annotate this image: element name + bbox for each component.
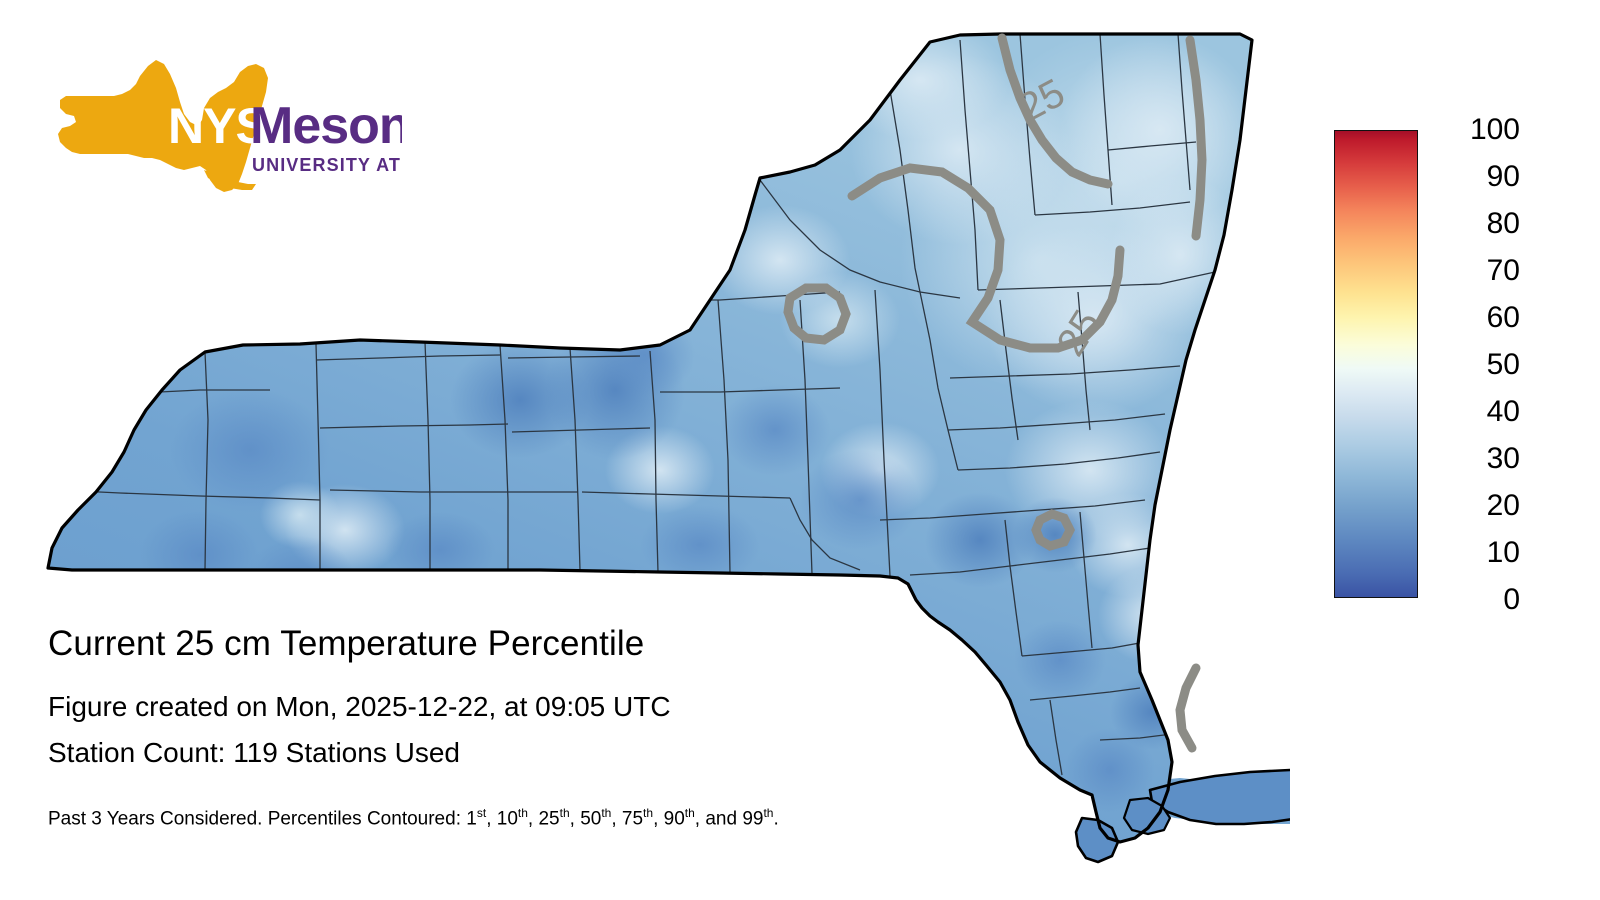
colorbar-tick-100: 100 xyxy=(1424,115,1520,145)
colorbar-tick-10: 10 xyxy=(1424,538,1520,568)
footnote-p5-suffix: th xyxy=(643,806,653,820)
colorbar-tick-0: 0 xyxy=(1424,585,1520,615)
footnote-p4-suffix: th xyxy=(601,806,611,820)
colorbar-container xyxy=(1334,130,1418,598)
footnote-p5: 75 xyxy=(622,808,643,829)
colorbar-tick-90: 90 xyxy=(1424,162,1520,192)
nys-mesonet-logo: NYS Mesonet UNIVERSITY AT ALBANY xyxy=(52,58,402,193)
logo-subtitle-text: UNIVERSITY AT ALBANY xyxy=(252,155,402,175)
logo-mesonet-text: Mesonet xyxy=(250,97,402,155)
colorbar-tick-60: 60 xyxy=(1424,303,1520,333)
percentile-colorbar xyxy=(1334,130,1418,598)
footnote-p1: 1 xyxy=(466,808,477,829)
footnote-p7: 99 xyxy=(742,808,763,829)
page-title: Current 25 cm Temperature Percentile xyxy=(48,622,1058,666)
station-count-text: Station Count: 119 Stations Used xyxy=(48,734,1058,772)
footnote-p1-suffix: st xyxy=(477,806,486,820)
footnote-p2-suffix: th xyxy=(518,806,528,820)
footnote-prefix: Past 3 Years Considered. Percentiles Con… xyxy=(48,808,466,829)
colorbar-tick-20: 20 xyxy=(1424,491,1520,521)
footnote-p7-suffix: th xyxy=(763,806,773,820)
footnote-p6-suffix: th xyxy=(685,806,695,820)
colorbar-tick-30: 30 xyxy=(1424,444,1520,474)
colorbar-tick-50: 50 xyxy=(1424,350,1520,380)
colorbar-tick-80: 80 xyxy=(1424,209,1520,239)
footnote-p3: 25 xyxy=(538,808,559,829)
footnote-p3-suffix: th xyxy=(560,806,570,820)
colorbar-tick-70: 70 xyxy=(1424,256,1520,286)
footnote-p6: 90 xyxy=(664,808,685,829)
colorbar-tick-labels: 100 90 80 70 60 50 40 30 20 10 0 xyxy=(1424,0,1544,900)
created-timestamp: Figure created on Mon, 2025-12-22, at 09… xyxy=(48,688,1058,726)
footnote-text: Past 3 Years Considered. Percentiles Con… xyxy=(48,800,1058,832)
colorbar-tick-40: 40 xyxy=(1424,397,1520,427)
caption-block: Current 25 cm Temperature Percentile Fig… xyxy=(48,622,1058,832)
footnote-p4: 50 xyxy=(580,808,601,829)
footnote-tail: . xyxy=(773,808,778,829)
footnote-p2: 10 xyxy=(497,808,518,829)
